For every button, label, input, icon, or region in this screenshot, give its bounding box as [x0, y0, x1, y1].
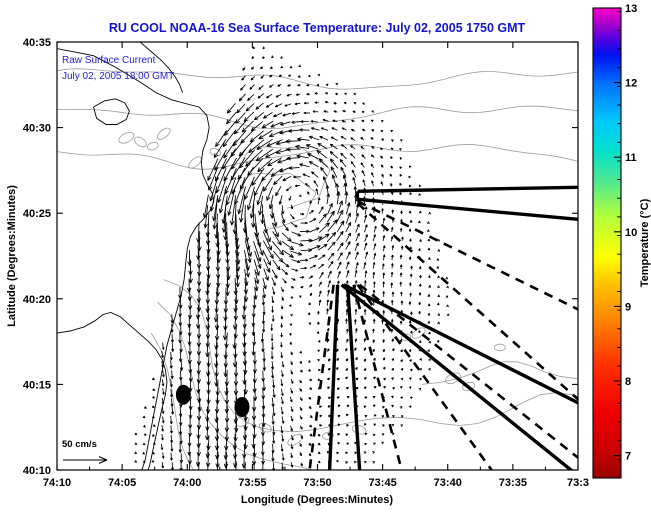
sst-surface-current-figure: RU COOL NOAA-16 Sea Surface Temperature:…: [0, 0, 651, 515]
y-axis-label: Latitude (Degrees:Minutes): [6, 185, 18, 327]
current-vector: [310, 416, 312, 418]
colorbar-tick-label: 11: [625, 152, 637, 164]
x-tick-label: 73:40: [434, 477, 462, 489]
x-tick-label: 74:10: [43, 477, 71, 489]
colorbar-gradient: [593, 8, 621, 478]
x-axis-label: Longitude (Degrees:Minutes): [241, 494, 394, 506]
y-tick-label: 40:35: [23, 37, 51, 49]
x-tick-label: 74:00: [173, 477, 201, 489]
colorbar-tick-label: 8: [625, 376, 631, 388]
annotation-line-1: Raw Surface Current: [62, 55, 156, 66]
current-vector: [381, 156, 383, 158]
colorbar-tick-label: 10: [625, 227, 637, 239]
colorbar-tick-label: 13: [625, 3, 637, 15]
current-vector: [261, 67, 263, 69]
x-tick-label: 74:05: [108, 477, 136, 489]
y-tick-label: 40:20: [23, 294, 51, 306]
scale-bar-label: 50 cm/s: [62, 439, 97, 450]
colorbar-label: Temperature (°C): [639, 198, 651, 287]
x-tick-label: 73:55: [238, 477, 266, 489]
colorbar-tick-label: 12: [625, 78, 637, 90]
x-tick-label: 73:50: [303, 477, 331, 489]
radar-site-marker: [176, 385, 191, 405]
annotation-line-2: July 02, 2005 18:00 GMT: [62, 71, 174, 82]
y-tick-label: 40:30: [23, 123, 51, 135]
y-tick-label: 40:10: [23, 465, 51, 477]
y-tick-label: 40:15: [23, 379, 51, 391]
colorbar-tick-label: 9: [625, 301, 631, 313]
current-vector: [309, 397, 311, 399]
page-title: RU COOL NOAA-16 Sea Surface Temperature:…: [109, 21, 526, 35]
x-tick-label: 73:3: [567, 477, 589, 489]
x-tick-label: 73:35: [499, 477, 527, 489]
colorbar-tick-label: 7: [625, 451, 631, 463]
x-tick-label: 73:45: [369, 477, 397, 489]
radar-site-marker: [235, 397, 250, 417]
y-tick-label: 40:25: [23, 208, 51, 220]
